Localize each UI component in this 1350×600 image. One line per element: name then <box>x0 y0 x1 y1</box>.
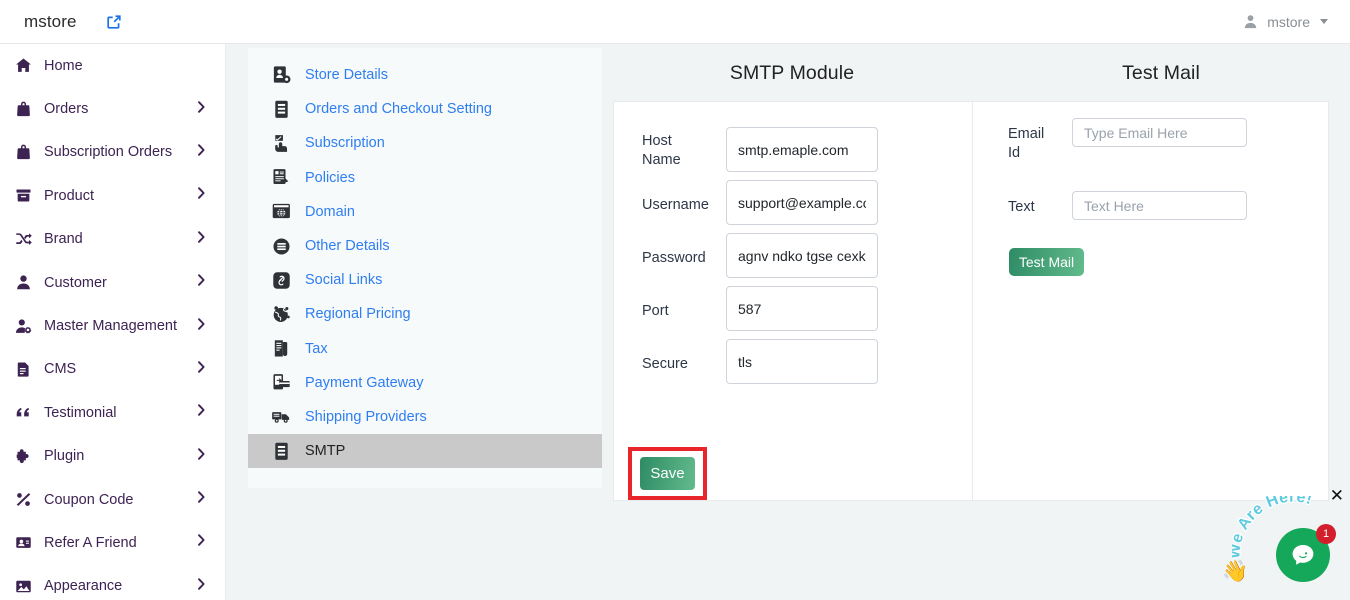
sidebar-item-label: Product <box>44 188 94 204</box>
settings-item-label: SMTP <box>305 443 345 459</box>
shuffle-icon <box>13 229 33 249</box>
smtp-module-panel: SMTP Module HostNameUsernamePasswordPort… <box>612 44 972 501</box>
test-mail-field-label: Text <box>1008 191 1072 217</box>
save-button-highlight: Save <box>628 447 707 500</box>
smtp-field-label: HostName <box>642 127 726 170</box>
settings-item-label: Shipping Providers <box>305 409 427 425</box>
sidebar-item-label: Coupon Code <box>44 492 134 508</box>
chat-unread-badge: 1 <box>1316 524 1336 544</box>
settings-item-label: Regional Pricing <box>305 306 411 322</box>
save-button[interactable]: Save <box>640 457 695 490</box>
test-mail-text-input[interactable] <box>1072 191 1247 220</box>
external-link-icon[interactable] <box>106 14 122 30</box>
app-root: mstore mstore HomeOrdersSubscription Or <box>0 0 1350 600</box>
contacts-icon <box>13 533 33 553</box>
smtp-panel-body: HostNameUsernamePasswordPortSecure Save <box>613 101 972 501</box>
person-gear-icon <box>13 316 33 336</box>
chevron-right-icon <box>196 100 207 119</box>
chevron-right-icon <box>196 143 207 162</box>
home-icon <box>13 56 33 76</box>
bag-icon <box>13 99 33 119</box>
store-details-icon <box>271 65 292 86</box>
orders-setting-icon <box>271 99 292 120</box>
smtp-field-label: Secure <box>642 339 726 374</box>
settings-item-tax[interactable]: Tax <box>248 332 602 366</box>
sidebar-item-label: Home <box>44 58 83 74</box>
test-mail-panel-title: Test Mail <box>972 44 1350 101</box>
settings-item-label: Social Links <box>305 272 382 288</box>
test-mail-panel: Test Mail EmailIdText Test Mail <box>972 44 1350 501</box>
smtp-field-row: HostName <box>642 127 972 172</box>
chevron-right-icon <box>196 447 207 466</box>
chat-widget[interactable]: We Are Here! 👋 1 <box>1220 484 1344 590</box>
settings-item-label: Tax <box>305 341 328 357</box>
smtp-username-input[interactable] <box>726 180 878 225</box>
chevron-down-icon <box>1320 19 1328 24</box>
top-bar: mstore mstore <box>0 0 1350 44</box>
settings-item-label: Subscription <box>305 135 385 151</box>
policies-icon <box>271 167 292 188</box>
user-name: mstore <box>1267 14 1310 30</box>
settings-item-label: Other Details <box>305 238 390 254</box>
smtp-field-label: Username <box>642 180 726 215</box>
bag-icon <box>13 142 33 162</box>
test-mail-field-label: EmailId <box>1008 118 1072 163</box>
sidebar-item-label: Testimonial <box>44 405 117 421</box>
regional-pricing-icon <box>271 304 292 325</box>
tax-icon <box>271 338 292 359</box>
sidebar-item-cms[interactable]: CMS <box>0 348 225 391</box>
settings-item-subscription[interactable]: Subscription <box>248 126 602 160</box>
chevron-right-icon <box>196 490 207 509</box>
settings-item-social-links[interactable]: Social Links <box>248 263 602 297</box>
smtp-secure-input[interactable] <box>726 339 878 384</box>
settings-item-domain[interactable]: Domain <box>248 195 602 229</box>
settings-item-orders-and-checkout-setting[interactable]: Orders and Checkout Setting <box>248 92 602 126</box>
test-mail-field-row: Text <box>1008 191 1328 220</box>
sidebar-item-home[interactable]: Home <box>0 44 225 87</box>
image-icon <box>13 576 33 596</box>
chevron-right-icon <box>196 230 207 249</box>
smtp-port-input[interactable] <box>726 286 878 331</box>
quote-icon <box>13 403 33 423</box>
sidebar-item-product[interactable]: Product <box>0 174 225 217</box>
chevron-right-icon <box>196 403 207 422</box>
smtp-field-row: Username <box>642 180 972 225</box>
sidebar-item-label: Appearance <box>44 578 122 594</box>
brand-name: mstore <box>24 12 77 32</box>
settings-item-smtp[interactable]: SMTP <box>248 434 602 468</box>
settings-item-label: Orders and Checkout Setting <box>305 101 492 117</box>
test-mail-email-id-input[interactable] <box>1072 118 1247 147</box>
settings-nav-card: Store DetailsOrders and Checkout Setting… <box>248 48 602 488</box>
sidebar: HomeOrdersSubscription OrdersProductBran… <box>0 44 226 600</box>
smtp-field-row: Port <box>642 286 972 331</box>
sidebar-item-label: Subscription Orders <box>44 144 172 160</box>
chevron-right-icon <box>196 317 207 336</box>
settings-item-label: Payment Gateway <box>305 375 423 391</box>
sidebar-item-brand[interactable]: Brand <box>0 218 225 261</box>
sidebar-item-label: Orders <box>44 101 88 117</box>
sidebar-item-label: Plugin <box>44 448 84 464</box>
settings-item-regional-pricing[interactable]: Regional Pricing <box>248 297 602 331</box>
box-icon <box>13 186 33 206</box>
sidebar-item-label: Master Management <box>44 318 177 334</box>
sidebar-item-master-management[interactable]: Master Management <box>0 304 225 347</box>
smtp-field-row: Secure <box>642 339 972 384</box>
smtp-icon <box>271 441 292 462</box>
settings-item-label: Policies <box>305 170 355 186</box>
sidebar-item-testimonial[interactable]: Testimonial <box>0 391 225 434</box>
sidebar-item-orders[interactable]: Orders <box>0 87 225 130</box>
user-icon <box>1243 14 1258 29</box>
sidebar-item-appearance[interactable]: Appearance <box>0 565 225 600</box>
chevron-right-icon <box>196 577 207 596</box>
social-links-icon <box>271 270 292 291</box>
percent-icon <box>13 490 33 510</box>
sidebar-item-coupon-code[interactable]: Coupon Code <box>0 478 225 521</box>
test-mail-field-row: EmailId <box>1008 118 1328 163</box>
settings-item-store-details[interactable]: Store Details <box>248 58 602 92</box>
test-mail-panel-body: EmailIdText Test Mail <box>972 101 1329 501</box>
smtp-host-name-input[interactable] <box>726 127 878 172</box>
settings-item-shipping-providers[interactable]: Shipping Providers <box>248 400 602 434</box>
chevron-right-icon <box>196 533 207 552</box>
brand-area: mstore <box>24 12 122 32</box>
payment-gateway-icon <box>271 372 292 393</box>
smtp-panel-title: SMTP Module <box>612 44 972 101</box>
settings-nav: Store DetailsOrders and Checkout Setting… <box>226 44 612 600</box>
smtp-field-label: Port <box>642 286 726 321</box>
test-mail-button[interactable]: Test Mail <box>1009 248 1084 276</box>
shipping-icon <box>271 406 292 427</box>
other-details-icon <box>271 236 292 257</box>
sidebar-item-label: Brand <box>44 231 83 247</box>
settings-item-policies[interactable]: Policies <box>248 161 602 195</box>
sidebar-item-label: Refer A Friend <box>44 535 137 551</box>
sidebar-item-label: Customer <box>44 275 107 291</box>
sidebar-item-plugin[interactable]: Plugin <box>0 435 225 478</box>
subscription-icon <box>271 133 292 154</box>
domain-icon <box>271 201 292 222</box>
sidebar-item-label: CMS <box>44 361 76 377</box>
settings-item-label: Store Details <box>305 67 388 83</box>
sidebar-item-customer[interactable]: Customer <box>0 261 225 304</box>
settings-item-payment-gateway[interactable]: Payment Gateway <box>248 366 602 400</box>
waving-hand-icon: 👋 <box>1222 560 1248 584</box>
chevron-right-icon <box>196 360 207 379</box>
chevron-right-icon <box>196 273 207 292</box>
settings-item-label: Domain <box>305 204 355 220</box>
sidebar-item-subscription-orders[interactable]: Subscription Orders <box>0 131 225 174</box>
puzzle-icon <box>13 446 33 466</box>
sidebar-item-refer-a-friend[interactable]: Refer A Friend <box>0 521 225 564</box>
settings-item-other-details[interactable]: Other Details <box>248 229 602 263</box>
chevron-right-icon <box>196 186 207 205</box>
smtp-field-label: Password <box>642 233 726 268</box>
smtp-field-row: Password <box>642 233 972 278</box>
document-icon <box>13 359 33 379</box>
smtp-password-input[interactable] <box>726 233 878 278</box>
user-menu[interactable]: mstore <box>1243 14 1328 30</box>
person-icon <box>13 273 33 293</box>
